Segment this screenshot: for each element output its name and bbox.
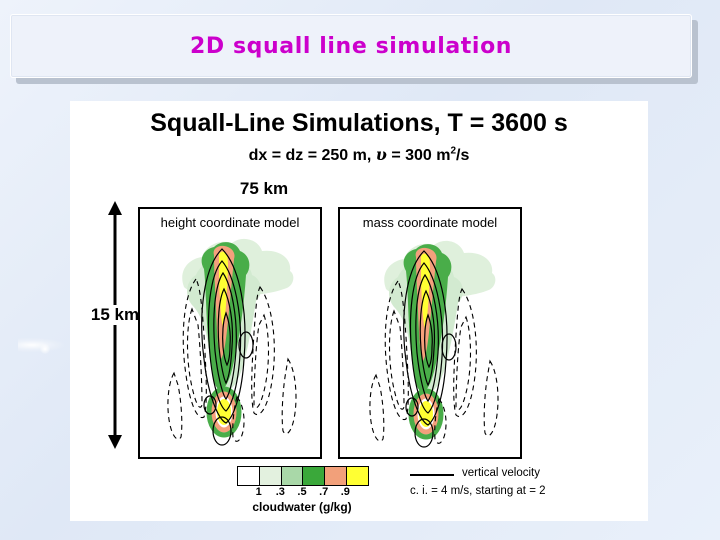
colorbar-tick-2: .5 — [297, 486, 306, 498]
colorbar-caption: cloudwater (g/kg) — [200, 500, 404, 514]
colorbar-tick-3: .7 — [319, 486, 328, 498]
colorbar-tick-4: .9 — [341, 486, 350, 498]
colorbar-swatch-5 — [347, 467, 368, 485]
plot-right-label: mass coordinate model — [340, 215, 520, 230]
figure-subtitle-post: = 300 m — [387, 147, 451, 164]
height-arrow-svg — [86, 201, 144, 449]
width-label: 75 km — [138, 179, 390, 199]
page-title: 2D squall line simulation — [190, 34, 512, 59]
colorbar-swatch-0 — [238, 467, 260, 485]
figure-subtitle-pre: dx = dz = 250 m, — [249, 147, 376, 164]
height-dimension-arrow: 15 km — [86, 201, 144, 449]
plot-left-svg — [140, 209, 320, 457]
colorbar-ticks: 1 .3 .5 .7 .9 — [237, 486, 367, 500]
legend-contour-note: c. i. = 4 m/s, starting at = 2 — [410, 485, 546, 497]
figure-title: Squall-Line Simulations, T = 3600 s — [70, 109, 648, 138]
legend-line-label: vertical velocity — [462, 467, 540, 479]
plot-left-label: height coordinate model — [140, 215, 320, 230]
figure-subtitle: dx = dz = 250 m, υ = 300 m2/s — [70, 145, 648, 165]
colorbar — [237, 466, 369, 486]
nu-symbol: υ — [376, 145, 387, 164]
width-dimension-arrow: 75 km — [138, 179, 390, 201]
title-banner: 2D squall line simulation — [10, 14, 692, 78]
figure-subtitle-end: /s — [456, 147, 469, 164]
figure-container: Squall-Line Simulations, T = 3600 s dx =… — [70, 101, 648, 521]
plot-panel-height-coordinate: height coordinate model — [138, 207, 322, 459]
plot-right-svg — [340, 209, 520, 457]
colorbar-tick-0: 1 — [256, 486, 262, 498]
colorbar-swatch-4 — [325, 467, 347, 485]
colorbar-swatch-3 — [303, 467, 325, 485]
colorbar-tick-1: .3 — [276, 486, 285, 498]
plot-panel-mass-coordinate: mass coordinate model — [338, 207, 522, 459]
colorbar-swatch-1 — [260, 467, 282, 485]
legend-line-sample — [410, 474, 454, 476]
decorative-light-streak — [18, 338, 64, 352]
colorbar-swatch-2 — [282, 467, 304, 485]
decorative-light-dot — [40, 344, 50, 354]
